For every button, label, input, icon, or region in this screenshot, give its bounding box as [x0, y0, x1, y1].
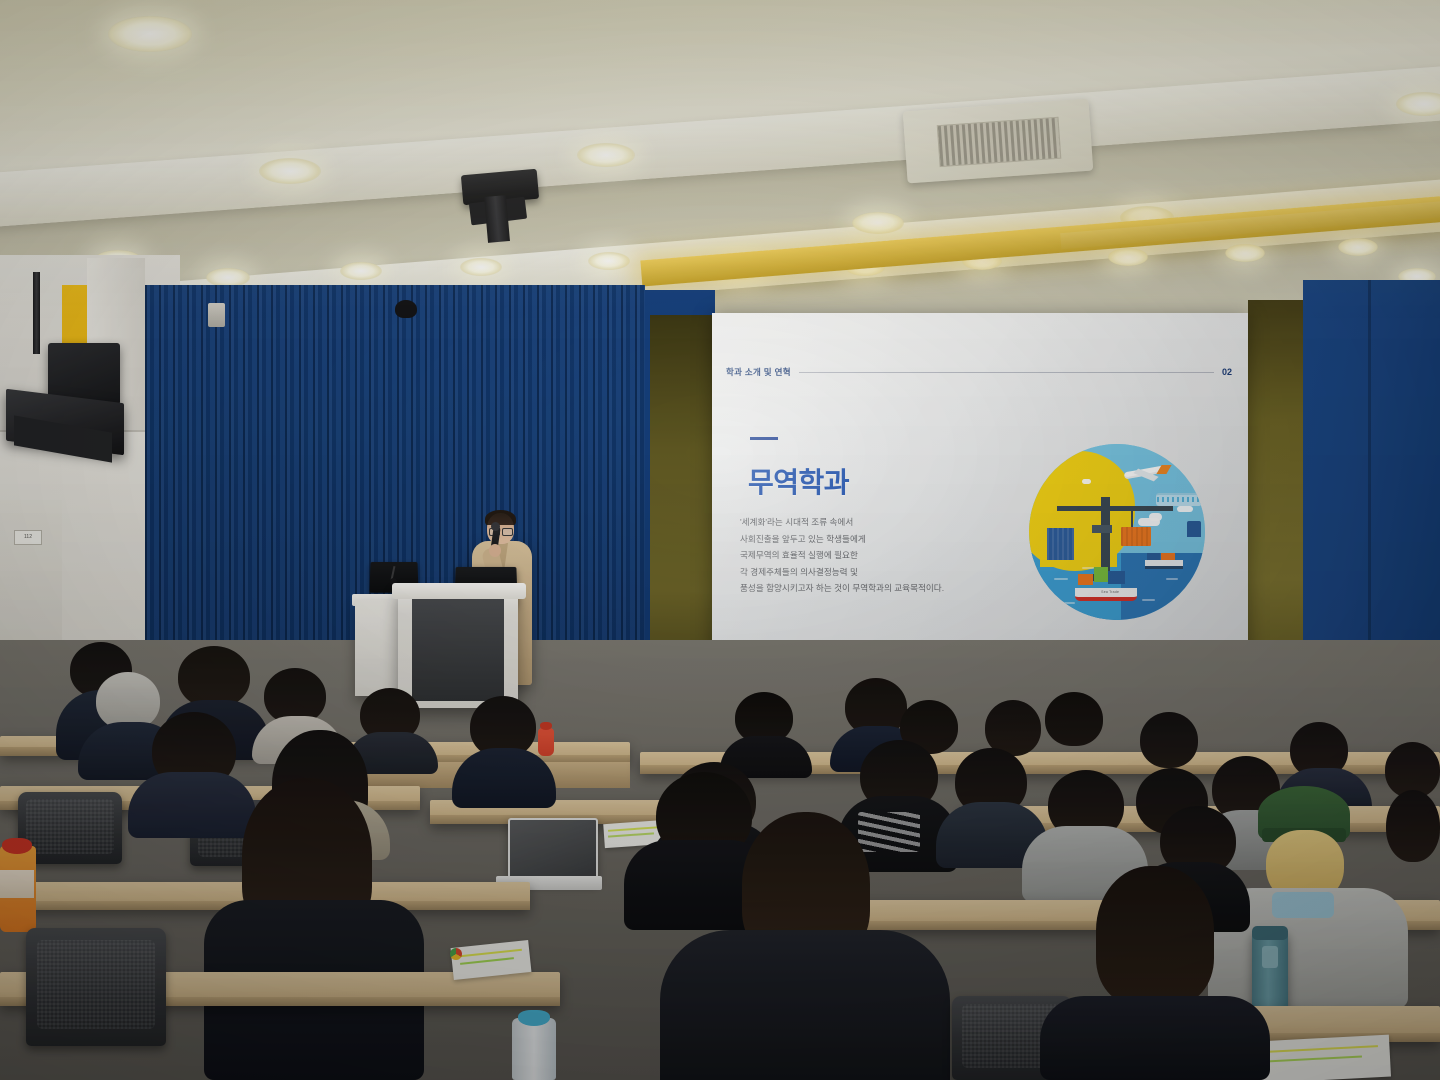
laptop-screen [508, 818, 598, 884]
crane-jib [1057, 506, 1173, 511]
room-number-text: 112 [15, 531, 41, 544]
cloud-icon [1082, 479, 1091, 484]
container-icon [1047, 528, 1074, 560]
projector-mount-arm [484, 195, 510, 243]
downlight [588, 252, 630, 270]
wave-icon [1142, 599, 1155, 601]
container-icon [1078, 574, 1093, 585]
downlight [460, 258, 502, 276]
orange-drink-bottle [538, 728, 554, 756]
tumbler-clip [1262, 946, 1278, 968]
room-number-sign: 112 [14, 530, 42, 545]
global-trade-illustration: Sea Trade [1029, 444, 1205, 620]
audience-head [1140, 712, 1198, 768]
wall-speaker-icon [208, 303, 225, 327]
face-mask-icon [1272, 892, 1334, 918]
audience-body [1040, 996, 1270, 1080]
sticker-icon [450, 948, 462, 960]
slide-title: 무역학과 [748, 461, 849, 501]
speaker-mount-pole [33, 272, 40, 354]
tumbler-lid [1252, 926, 1288, 940]
downlight [1338, 238, 1378, 256]
downlight [1108, 248, 1148, 266]
container-icon [1121, 527, 1151, 546]
cloud-icon [1149, 513, 1162, 521]
container-icon [1108, 571, 1125, 584]
downlight [259, 158, 321, 184]
wave-icon [1166, 578, 1178, 580]
slide-header: 학과 소개 및 연혁 02 [726, 366, 1232, 378]
slide-accent-rule [750, 437, 778, 440]
slide-body-text: '세계화'라는 시대적 조류 속에서 사회진출을 앞두고 있는 학생들에게 국제… [740, 517, 990, 600]
podium-front-panel [412, 595, 504, 701]
slide-body-line: 품성을 함양시키고자 하는 것이 무역학과의 교육목적이다. [740, 583, 990, 594]
chair[interactable] [26, 928, 166, 1046]
crane-mast [1101, 497, 1110, 578]
container-icon [1094, 567, 1108, 582]
downlight [852, 212, 904, 234]
wave-icon [1082, 567, 1094, 569]
audience-head [178, 646, 250, 708]
downlight [108, 16, 192, 52]
ship-label: Sea Trade [1101, 590, 1119, 594]
audience-head [1045, 692, 1103, 746]
bottle-label [0, 870, 34, 898]
ceiling-camera-icon [395, 300, 417, 318]
podium-top-surface [392, 583, 526, 599]
cloud-icon [1177, 506, 1193, 512]
slide-body-line: 각 경제주체들의 의사결정능력 및 [740, 567, 990, 578]
port-tower-icon [1187, 521, 1201, 537]
crane-cabin [1092, 525, 1112, 533]
downlight [1225, 244, 1265, 262]
bottle-cap [2, 838, 32, 854]
audience-head [1096, 866, 1214, 1006]
audience-head [1386, 790, 1440, 862]
barge-icon [1145, 560, 1183, 569]
microphone-head [491, 522, 500, 531]
slide-header-rule [799, 372, 1214, 373]
glasses-icon [502, 528, 513, 536]
downlight [340, 262, 382, 280]
hoodie-print-text [858, 812, 920, 852]
slide-body-line: '세계화'라는 시대적 조류 속에서 [740, 517, 990, 528]
downlight [577, 143, 635, 167]
wave-icon [1054, 578, 1068, 580]
container-icon [1147, 553, 1160, 560]
audience-body [128, 772, 256, 838]
lecture-hall-photo: 112 학과 소개 및 연혁 02 무역학과 '세계화'라는 시대적 조류 속에… [0, 0, 1440, 1080]
ceiling-ac-unit [903, 99, 1094, 184]
water-bottle [512, 1018, 556, 1080]
bridge-detail [1157, 497, 1201, 502]
bottle-cap [518, 1010, 550, 1026]
audience-body-puffer [660, 930, 950, 1080]
slide-body-line: 사회진출을 앞두고 있는 학생들에게 [740, 534, 990, 545]
slide-body-line: 국제무역의 효율적 실행에 필요한 [740, 550, 990, 561]
slide-page-number: 02 [1222, 367, 1232, 377]
container-icon [1161, 553, 1175, 560]
presenter-hand [489, 544, 501, 557]
slide-header-label: 학과 소개 및 연혁 [726, 366, 791, 378]
bottle-cap [540, 722, 552, 730]
ac-grille [937, 117, 1061, 168]
